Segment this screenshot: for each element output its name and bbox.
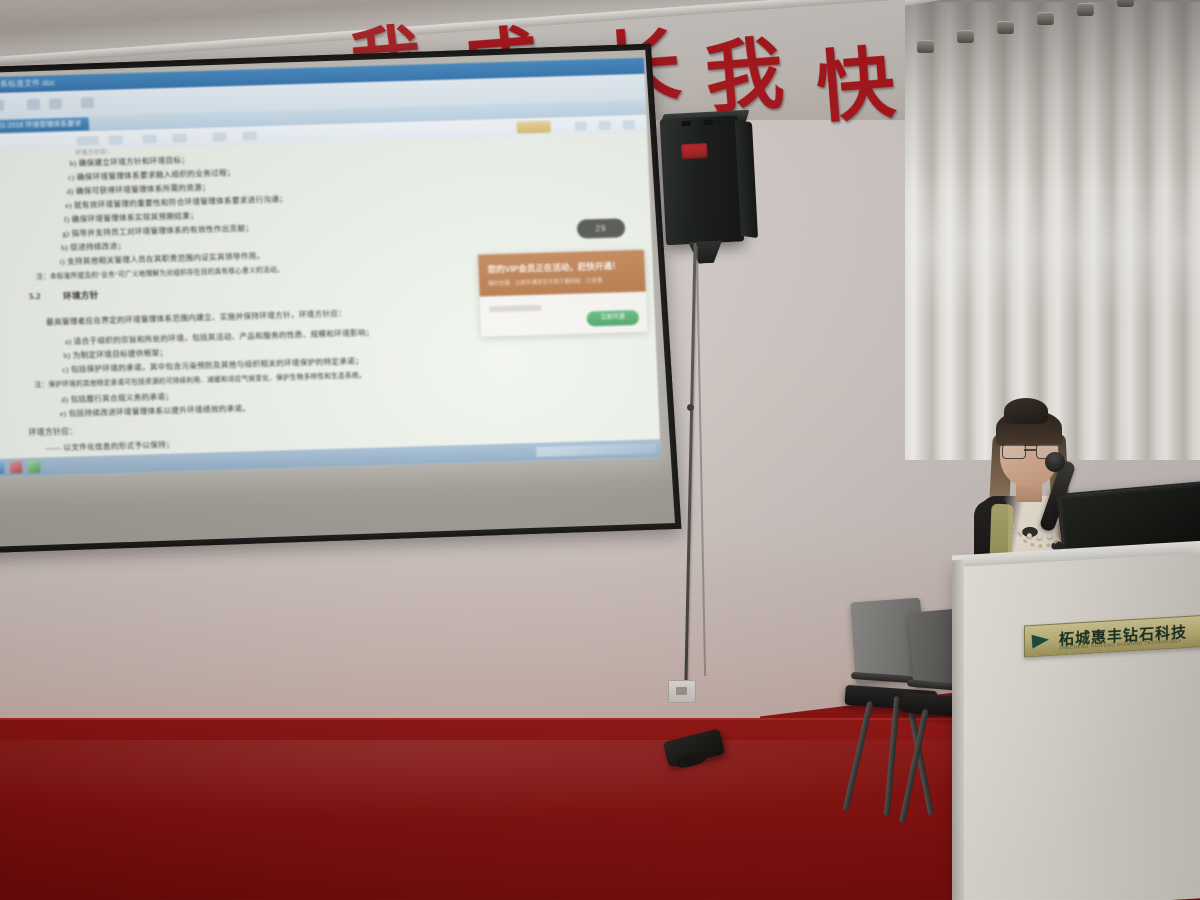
taskbar-icon-document[interactable] bbox=[0, 462, 4, 474]
toast-body: 立即开通 bbox=[480, 292, 648, 337]
doc-list-item: b) 确保建立环境方针和环境目标； bbox=[69, 154, 189, 169]
curtain-top-shadow bbox=[905, 0, 1200, 190]
curtain-grommet bbox=[1117, 0, 1134, 7]
cable-clip bbox=[687, 404, 694, 411]
company-logo-icon bbox=[1032, 633, 1050, 649]
ribbon-icon-undo[interactable] bbox=[27, 99, 40, 110]
doc-closing-label: 环境方针应： bbox=[28, 426, 77, 438]
doc-policy-item: d) 包括履行其合规义务的承诺； bbox=[61, 391, 173, 405]
doc-section-title: 环境方针 bbox=[63, 289, 99, 302]
toolbar-icon-fullscreen[interactable] bbox=[623, 120, 635, 129]
toast-activate-button[interactable]: 立即开通 bbox=[586, 310, 639, 327]
presenter-hair-bun bbox=[1004, 398, 1048, 424]
page-number-pill[interactable]: 29 bbox=[577, 218, 626, 238]
toolbar-icon-comment[interactable] bbox=[212, 132, 226, 141]
wall-mounted-speaker bbox=[660, 115, 759, 250]
doc-policy-item: e) 包括持续改进环境管理体系以提升环境绩效的承诺。 bbox=[60, 402, 251, 419]
doc-list-item: c) 确保环境管理体系要求融入组织的业务过程； bbox=[68, 167, 235, 183]
curtain-grommet bbox=[1037, 12, 1054, 25]
toast-phone-input[interactable] bbox=[489, 305, 541, 313]
toast-subtitle: 限时优惠 · 立即开通享受文档下载特权 · 已优惠 bbox=[488, 276, 636, 288]
podium bbox=[958, 553, 1200, 900]
banner-char-4: 快 bbox=[812, 20, 899, 138]
photo-scene: 我 成 长 我 快 环境管理体系标准文件.doc bbox=[0, 0, 1200, 900]
curtain-highlight-band bbox=[905, 170, 1200, 320]
doc-closing-item: —— 以文件化信息的形式予以保持； bbox=[45, 439, 174, 454]
outlet-socket bbox=[676, 687, 687, 695]
toast-header: 您的VIP会员正在活动，赶快开通！ 限时优惠 · 立即开通享受文档下载特权 · … bbox=[478, 250, 646, 297]
window-curtain-area bbox=[905, 0, 1200, 460]
vip-badge[interactable] bbox=[516, 121, 551, 134]
doc-section-intro: 最高管理者应在界定的环境管理体系范围内建立、实施并保持环境方针，环境方针应： bbox=[46, 308, 346, 328]
toolbar-icon-settings[interactable] bbox=[599, 121, 611, 130]
screen-surface: 环境管理体系标准文件.doc GB/T 24001-2016 环境管理体系要求 bbox=[0, 50, 675, 548]
doc-policy-item: b) 为制定环境目标提供框架； bbox=[63, 347, 167, 361]
curtain-grommet bbox=[917, 40, 934, 53]
ribbon-icon-zoom[interactable] bbox=[81, 97, 94, 108]
toolbar-icon-align[interactable] bbox=[108, 135, 122, 144]
toolbar-icon-font[interactable] bbox=[76, 136, 98, 146]
curtain-grommet bbox=[1077, 3, 1094, 16]
glasses-bridge bbox=[1024, 449, 1036, 451]
doc-list-item: g) 指导并支持员工对环境管理体系的有效性作出贡献； bbox=[62, 222, 253, 239]
toolbar-icon-image[interactable] bbox=[172, 133, 186, 142]
projection-screen: 环境管理体系标准文件.doc GB/T 24001-2016 环境管理体系要求 bbox=[0, 44, 675, 548]
vip-promo-toast[interactable]: 您的VIP会员正在活动，赶快开通！ 限时优惠 · 立即开通享受文档下载特权 · … bbox=[478, 250, 647, 337]
screen-frame: 环境管理体系标准文件.doc GB/T 24001-2016 环境管理体系要求 bbox=[0, 44, 681, 554]
app-title-text: 环境管理体系标准文件.doc bbox=[0, 77, 55, 91]
ribbon-icon-print[interactable] bbox=[0, 100, 4, 111]
wall-power-outlet[interactable] bbox=[668, 680, 696, 703]
speaker-port bbox=[704, 120, 713, 125]
toast-title: 您的VIP会员正在活动，赶快开通！ bbox=[487, 260, 635, 275]
doc-list-item: h) 促进持续改进； bbox=[61, 240, 126, 253]
toolbar-icon-table[interactable] bbox=[142, 134, 156, 143]
doc-list-item: d) 确保可获得环境管理体系所需的资源； bbox=[66, 182, 210, 197]
glasses-lens-left bbox=[1002, 444, 1026, 459]
taskbar-icon-browser[interactable] bbox=[10, 461, 23, 473]
speaker-front-face bbox=[660, 115, 744, 245]
toolbar-icon-search[interactable] bbox=[575, 121, 587, 130]
speaker-brand-label bbox=[681, 143, 708, 159]
doc-list-item: e) 就有效环境管理的重要性和符合环境管理体系要求进行沟通； bbox=[65, 193, 287, 211]
toolbar-icon-share[interactable] bbox=[242, 131, 256, 140]
doc-policy-item: a) 适合于组织的宗旨和所处的环境，包括其活动、产品和服务的性质、规模和环境影响… bbox=[65, 327, 374, 347]
doc-list-item: f) 确保环境管理体系实现其预期结果； bbox=[64, 210, 199, 225]
curtain-grommet bbox=[997, 21, 1014, 34]
projected-image: 环境管理体系标准文件.doc GB/T 24001-2016 环境管理体系要求 bbox=[0, 58, 661, 478]
podium-left-edge bbox=[952, 560, 964, 900]
speaker-port bbox=[682, 121, 691, 126]
ribbon-icon-redo[interactable] bbox=[49, 98, 62, 109]
system-tray[interactable] bbox=[536, 443, 656, 457]
taskbar-icon-player[interactable] bbox=[28, 461, 41, 473]
doc-section-number: 5.2 bbox=[29, 291, 41, 301]
curtain-grommet bbox=[957, 30, 974, 43]
